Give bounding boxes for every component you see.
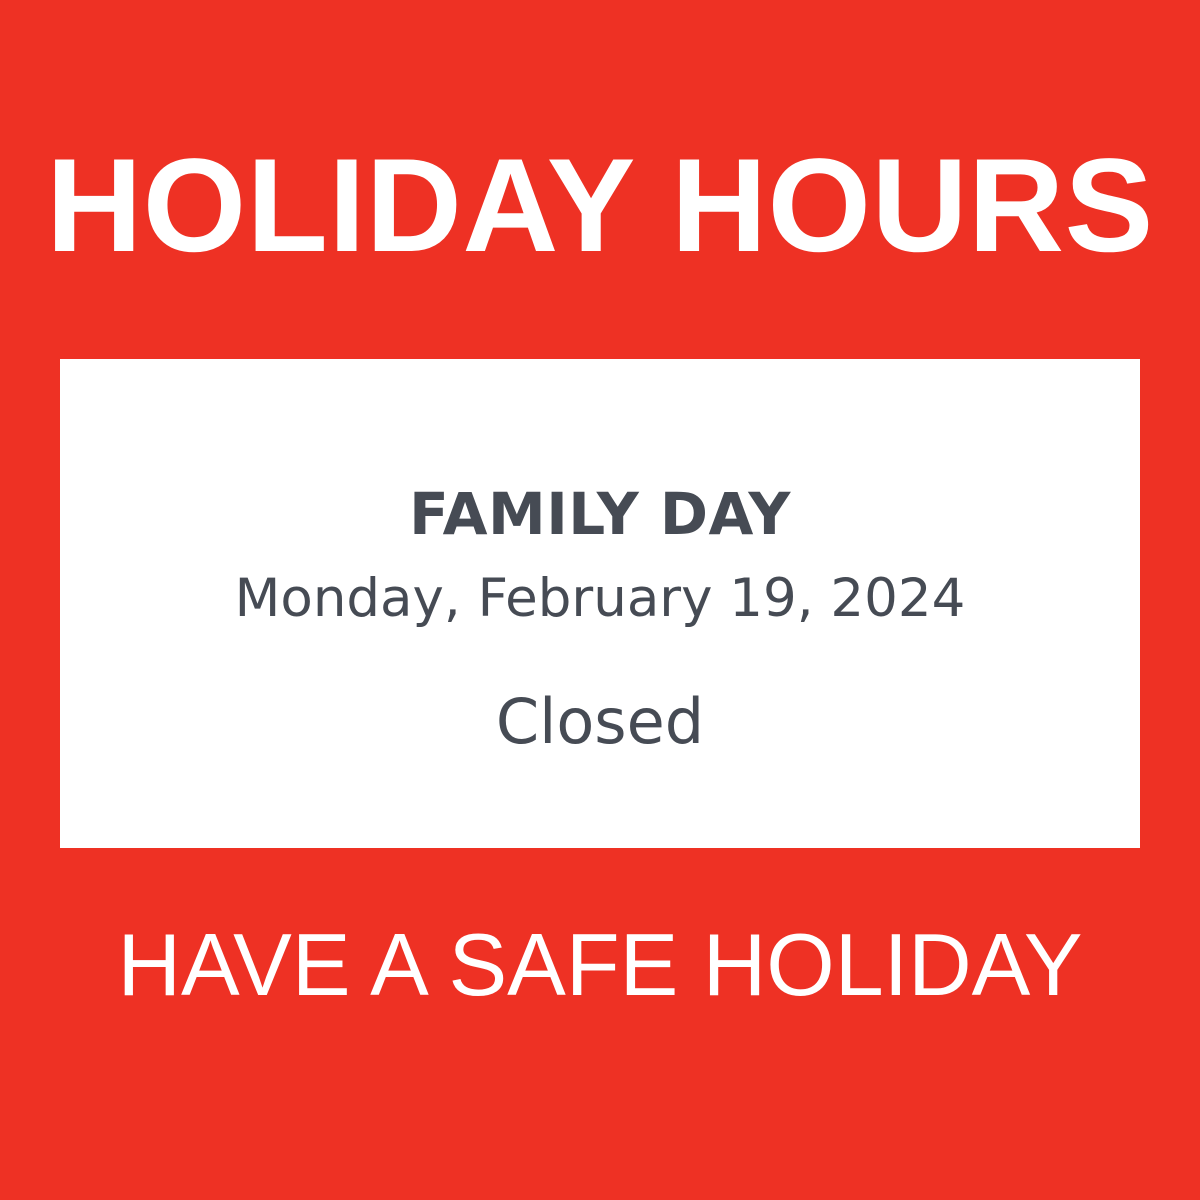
holiday-date: Monday, February 19, 2024 <box>60 571 1140 627</box>
holiday-info-card: FAMILY DAY Monday, February 19, 2024 Clo… <box>60 359 1140 848</box>
holiday-name: FAMILY DAY <box>60 484 1140 545</box>
holiday-info-card-inner: FAMILY DAY Monday, February 19, 2024 Clo… <box>60 359 1140 848</box>
status-badge: Closed <box>60 689 1140 754</box>
holiday-hours-sign: HOLIDAY HOURS FAMILY DAY Monday, Februar… <box>0 0 1200 1200</box>
sign-footer-message: HAVE A SAFE HOLIDAY <box>0 921 1200 1009</box>
page-title: HOLIDAY HOURS <box>0 140 1200 273</box>
